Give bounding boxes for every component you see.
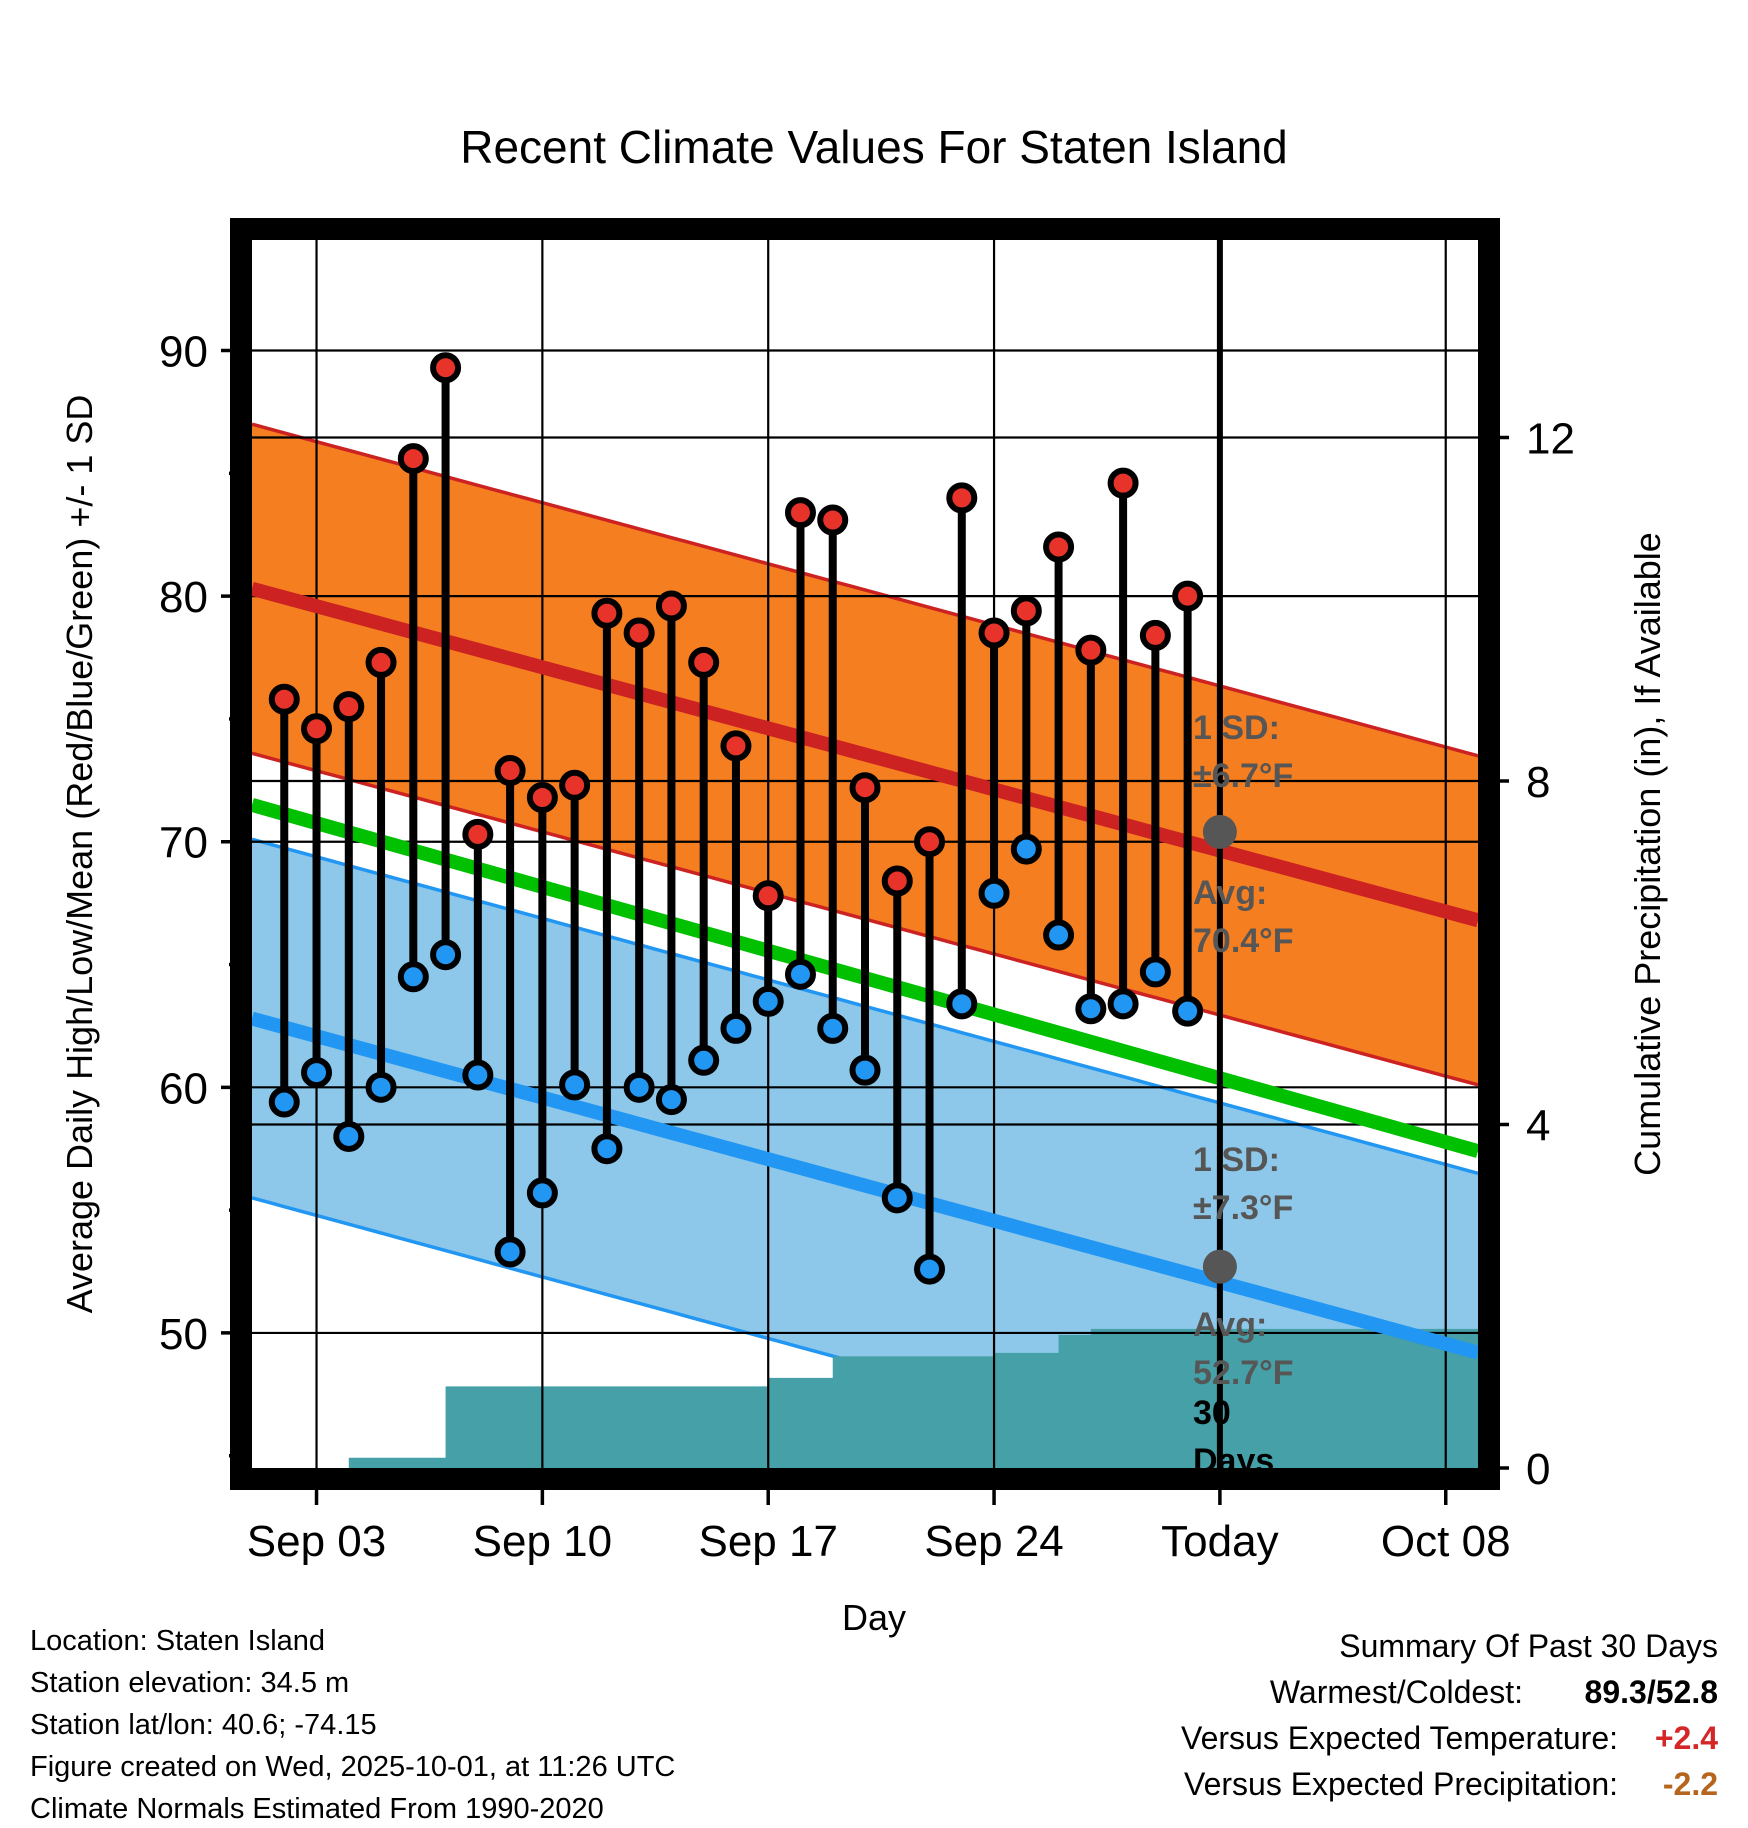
footer-line: Location: Staten Island xyxy=(30,1625,325,1657)
today-normal-high-dot xyxy=(1203,815,1237,849)
daily-high-marker xyxy=(949,485,974,510)
low-sd-label-line1: 1 SD: xyxy=(1193,1141,1280,1179)
footer-line: Climate Normals Estimated From 1990-2020 xyxy=(30,1793,604,1825)
daily-low-marker xyxy=(1014,837,1039,862)
daily-high-marker xyxy=(336,694,361,719)
daily-low-marker xyxy=(530,1180,555,1205)
summary-label: Warmest/Coldest: xyxy=(1270,1674,1523,1710)
summary-label: Versus Expected Precipitation: xyxy=(1184,1766,1618,1802)
footer-line: Station elevation: 34.5 m xyxy=(30,1667,349,1699)
daily-low-marker xyxy=(627,1075,652,1100)
daily-low-marker xyxy=(272,1090,297,1115)
daily-low-marker xyxy=(304,1060,329,1085)
daily-high-marker xyxy=(1111,471,1136,496)
daily-high-marker xyxy=(530,785,555,810)
y-tick-label-left: 50 xyxy=(159,1310,208,1359)
daily-high-marker xyxy=(1046,535,1071,560)
daily-low-marker xyxy=(562,1072,587,1097)
daily-high-marker xyxy=(1078,638,1103,663)
footer-line: Station lat/lon: 40.6; -74.15 xyxy=(30,1709,377,1741)
high-sd-label-line1: 1 SD: xyxy=(1193,709,1280,747)
daily-high-marker xyxy=(433,355,458,380)
y-axis-right-title: Cumulative Precipitation (in), If Availa… xyxy=(1627,532,1668,1176)
x-tick-label: Today xyxy=(1161,1517,1278,1566)
daily-low-marker xyxy=(1175,999,1200,1024)
x-tick-label: Sep 10 xyxy=(473,1517,612,1566)
y-axis-left-title: Average Daily High/Low/Mean (Red/Blue/Gr… xyxy=(59,395,100,1314)
summary-value: -2.2 xyxy=(1663,1766,1718,1802)
daily-low-marker xyxy=(498,1239,523,1264)
daily-high-marker xyxy=(401,446,426,471)
x-tick-label: Oct 08 xyxy=(1381,1517,1511,1566)
daily-low-marker xyxy=(949,991,974,1016)
daily-low-marker xyxy=(369,1075,394,1100)
daily-low-marker xyxy=(788,962,813,987)
high-sd-label-line2: ±6.7°F xyxy=(1193,757,1293,795)
daily-low-marker xyxy=(336,1124,361,1149)
daily-low-marker xyxy=(659,1087,684,1112)
daily-low-marker xyxy=(691,1048,716,1073)
daily-high-marker xyxy=(627,620,652,645)
summary-value: 89.3/52.8 xyxy=(1585,1674,1718,1710)
daily-high-marker xyxy=(982,620,1007,645)
high-avg-label-line2: 70.4°F xyxy=(1193,922,1294,960)
y-tick-label-left: 60 xyxy=(159,1064,208,1113)
daily-low-marker xyxy=(433,942,458,967)
daily-high-marker xyxy=(272,687,297,712)
low-avg-label-line2: 52.7°F xyxy=(1193,1354,1294,1392)
daily-low-marker xyxy=(853,1058,878,1083)
daily-low-marker xyxy=(401,964,426,989)
low-avg-label-line1: Avg: xyxy=(1193,1306,1267,1344)
daily-high-marker xyxy=(498,758,523,783)
page-title: Recent Climate Values For Staten Island xyxy=(460,121,1288,173)
daily-high-marker xyxy=(853,775,878,800)
daily-low-marker xyxy=(1046,923,1071,948)
summary-heading: Summary Of Past 30 Days xyxy=(1339,1628,1718,1664)
x-tick-label: Sep 03 xyxy=(247,1517,386,1566)
daily-high-marker xyxy=(1143,623,1168,648)
daily-high-marker xyxy=(691,650,716,675)
daily-high-marker xyxy=(820,507,845,532)
daily-low-marker xyxy=(465,1063,490,1088)
daily-high-marker xyxy=(885,869,910,894)
daily-low-marker xyxy=(1111,991,1136,1016)
footer-line: Figure created on Wed, 2025-10-01, at 11… xyxy=(30,1751,675,1783)
daily-high-marker xyxy=(1014,598,1039,623)
y-tick-label-left: 90 xyxy=(159,328,208,377)
daily-high-marker xyxy=(1175,584,1200,609)
daily-high-marker xyxy=(659,593,684,618)
climate-figure: Recent Climate Values For Staten Island … xyxy=(0,0,1748,1828)
y-tick-label-right: 12 xyxy=(1526,415,1575,464)
today-normal-low-dot xyxy=(1203,1250,1237,1284)
daily-high-marker xyxy=(562,773,587,798)
low-sd-label-line2: ±7.3°F xyxy=(1193,1189,1293,1227)
y-tick-label-left: 70 xyxy=(159,819,208,868)
x-tick-label: Sep 24 xyxy=(924,1517,1063,1566)
daily-low-marker xyxy=(885,1185,910,1210)
daily-low-marker xyxy=(917,1257,942,1282)
daily-high-marker xyxy=(756,883,781,908)
daily-high-marker xyxy=(788,500,813,525)
y-tick-label-right: 8 xyxy=(1526,758,1550,807)
daily-high-marker xyxy=(594,601,619,626)
summary-value: +2.4 xyxy=(1655,1720,1718,1756)
daily-high-marker xyxy=(465,822,490,847)
y-tick-label-right: 0 xyxy=(1526,1445,1550,1494)
daily-high-marker xyxy=(917,829,942,854)
daily-low-marker xyxy=(1078,996,1103,1021)
summary-label: Versus Expected Temperature: xyxy=(1181,1720,1618,1756)
x-axis-title: Day xyxy=(842,1597,906,1638)
daily-low-marker xyxy=(594,1136,619,1161)
y-tick-label-right: 4 xyxy=(1526,1102,1550,1151)
y-tick-label-left: 80 xyxy=(159,573,208,622)
daily-low-marker xyxy=(982,881,1007,906)
daily-low-marker xyxy=(1143,959,1168,984)
daily-low-marker xyxy=(820,1016,845,1041)
daily-high-marker xyxy=(304,716,329,741)
daily-high-marker xyxy=(369,650,394,675)
x-tick-label: Sep 17 xyxy=(698,1517,837,1566)
daily-high-marker xyxy=(723,733,748,758)
daily-low-marker xyxy=(756,989,781,1014)
window-label-line1: 30 xyxy=(1193,1394,1231,1432)
high-avg-label-line1: Avg: xyxy=(1193,874,1267,912)
daily-low-marker xyxy=(723,1016,748,1041)
